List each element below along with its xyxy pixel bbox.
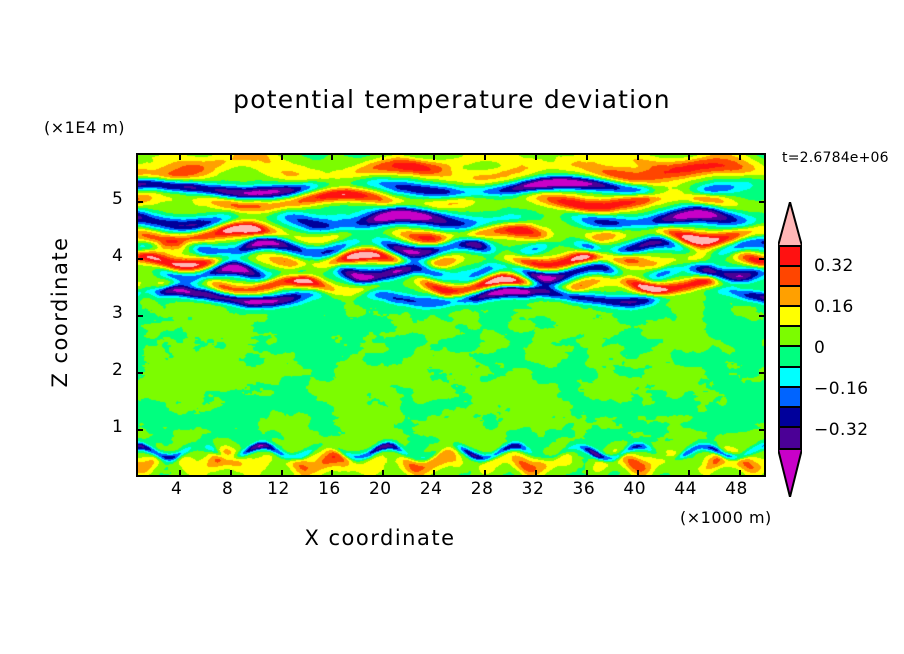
x-tick <box>281 470 283 477</box>
x-tick-label: 20 <box>369 479 392 499</box>
x-tick <box>535 470 537 477</box>
x-tick-label: 44 <box>674 479 697 499</box>
x-tick <box>739 153 741 160</box>
x-tick-label: 40 <box>623 479 646 499</box>
x-tick <box>331 153 333 160</box>
colorbar-tick-label: 0 <box>814 338 825 358</box>
x-tick <box>433 153 435 160</box>
x-tick <box>586 470 588 477</box>
y-tick <box>759 258 766 260</box>
y-tick <box>759 315 766 317</box>
x-tick <box>637 153 639 160</box>
colorbar-upper-extend-arrow-icon <box>778 202 802 246</box>
y-tick <box>136 315 143 317</box>
x-tick <box>382 153 384 160</box>
x-axis-title: X coordinate <box>0 526 760 550</box>
y-tick-label: 4 <box>112 246 123 266</box>
colorbar-band <box>780 267 800 287</box>
x-tick-label: 36 <box>573 479 596 499</box>
colorbar-tick-label: 0.32 <box>814 256 854 276</box>
colorbar-band <box>780 428 800 448</box>
y-tick-label: 1 <box>112 417 123 437</box>
colorbar-tick-label: −0.16 <box>814 379 869 399</box>
x-tick <box>382 470 384 477</box>
x-tick <box>688 470 690 477</box>
y-tick-label: 2 <box>112 360 123 380</box>
x-tick <box>179 153 181 160</box>
x-tick <box>230 470 232 477</box>
colorbar-band <box>780 327 800 347</box>
colorbar-bands <box>778 245 802 450</box>
y-tick <box>759 429 766 431</box>
x-tick-label: 8 <box>222 479 233 499</box>
colorbar-band <box>780 408 800 428</box>
colorbar-lower-extend-arrow-icon <box>778 449 802 497</box>
colorbar-band <box>780 247 800 267</box>
contour-field <box>138 155 764 475</box>
colorbar-band <box>780 347 800 367</box>
x-tick <box>179 470 181 477</box>
x-axis-unit-label: (×1000 m) <box>680 508 772 527</box>
x-tick-label: 4 <box>171 479 182 499</box>
y-tick-label: 5 <box>112 189 123 209</box>
time-annotation: t=2.6784e+06 <box>782 150 889 166</box>
x-tick <box>739 470 741 477</box>
colorbar-tick-label: −0.32 <box>814 420 869 440</box>
x-tick-label: 28 <box>471 479 494 499</box>
x-tick <box>433 470 435 477</box>
x-tick <box>688 153 690 160</box>
x-tick <box>281 153 283 160</box>
y-tick <box>136 201 143 203</box>
x-tick <box>484 470 486 477</box>
y-tick <box>759 372 766 374</box>
x-tick <box>230 153 232 160</box>
colorbar-band <box>780 368 800 388</box>
y-tick-label: 3 <box>112 303 123 323</box>
y-tick <box>759 201 766 203</box>
y-axis-title: Z coordinate <box>48 212 72 412</box>
x-tick-label: 48 <box>725 479 748 499</box>
x-tick-label: 32 <box>522 479 545 499</box>
x-tick-label: 24 <box>420 479 443 499</box>
x-tick <box>484 153 486 160</box>
x-tick-label: 12 <box>267 479 290 499</box>
colorbar-band <box>780 307 800 327</box>
x-tick-label: 16 <box>318 479 341 499</box>
colorbar-band <box>780 388 800 408</box>
contour-plot-area[interactable] <box>136 153 766 477</box>
y-tick <box>136 372 143 374</box>
x-tick <box>535 153 537 160</box>
x-tick <box>637 470 639 477</box>
y-tick <box>136 429 143 431</box>
x-tick <box>331 470 333 477</box>
colorbar[interactable]: 0.320.160−0.16−0.32 <box>776 200 896 500</box>
x-tick <box>586 153 588 160</box>
colorbar-band <box>780 287 800 307</box>
y-axis-unit-label: (×1E4 m) <box>44 118 125 137</box>
colorbar-tick-label: 0.16 <box>814 297 854 317</box>
page-title: potential temperature deviation <box>0 85 904 114</box>
y-tick <box>136 258 143 260</box>
